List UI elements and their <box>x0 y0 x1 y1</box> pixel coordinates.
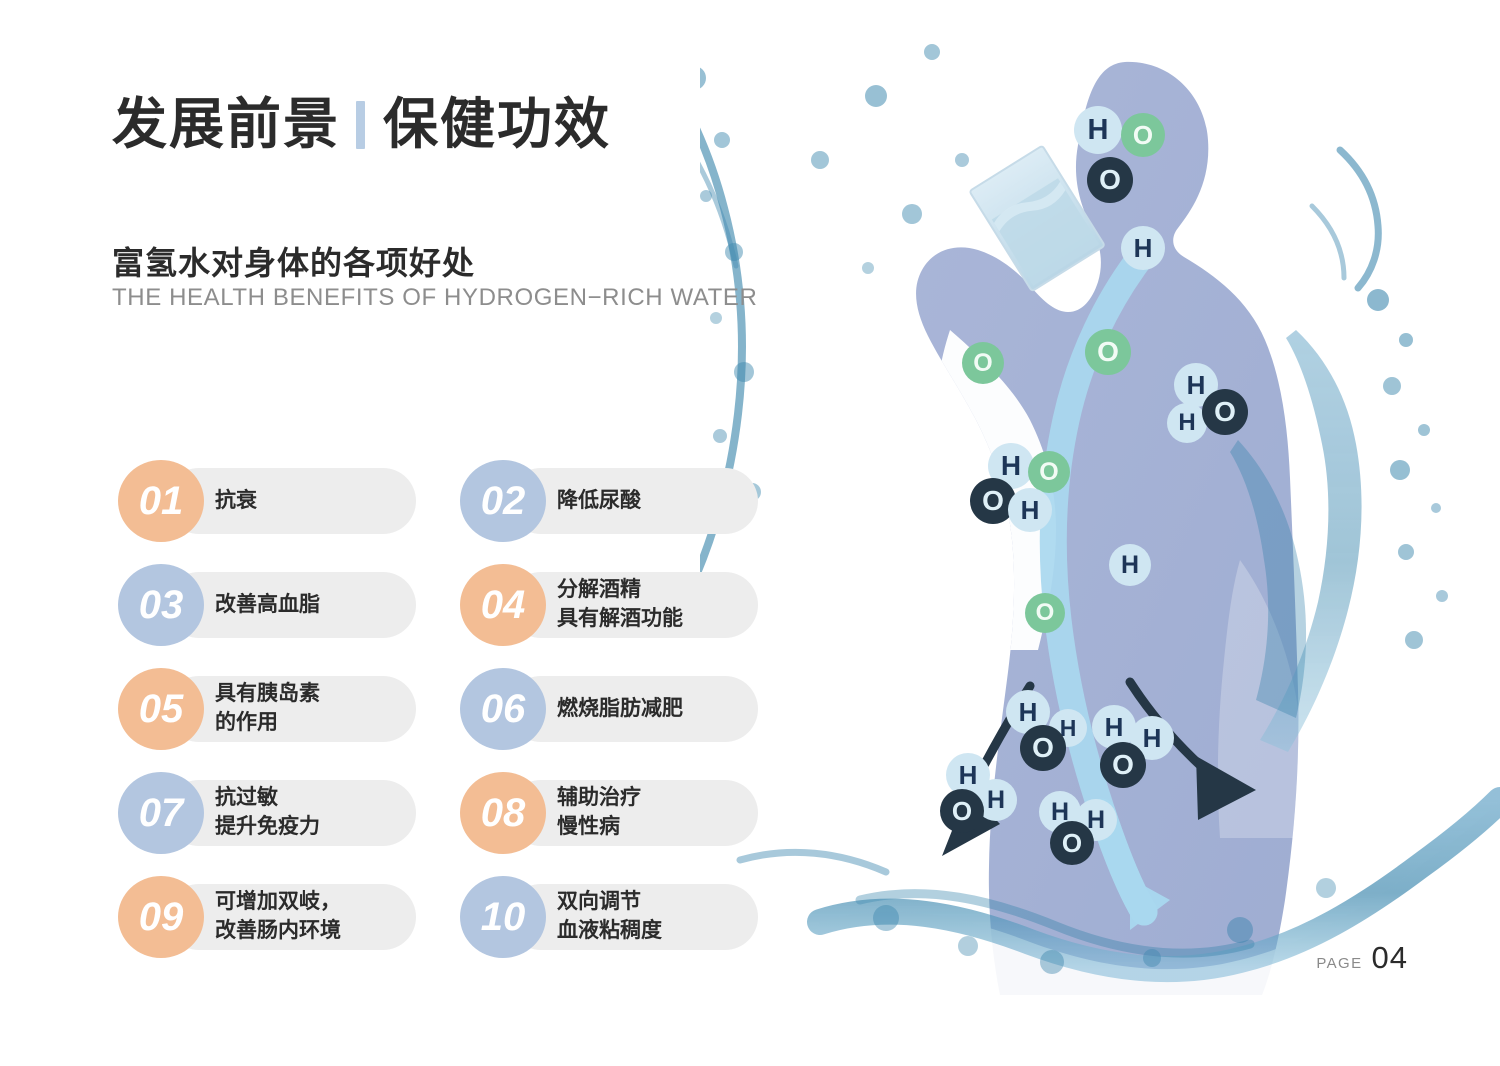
molecule-bubble-h: H <box>1167 403 1207 443</box>
title-row: 发展前景 保健功效 <box>112 96 611 154</box>
benefit-label: 双向调节 血液粘稠度 <box>557 876 752 958</box>
page-title-right: 保健功效 <box>383 96 611 154</box>
molecule-bubble-h: H <box>1121 226 1165 270</box>
benefit-label: 降低尿酸 <box>557 460 752 542</box>
benefits-list: 01抗衰02降低尿酸03改善高血脂04分解酒精 具有解酒功能05具有胰岛素 的作… <box>118 460 758 980</box>
molecule-bubble-o: O <box>1100 742 1146 788</box>
molecule-bubble-o: O <box>1028 451 1070 493</box>
benefit-row: 07抗过敏 提升免疫力08辅助治疗 慢性病 <box>118 772 758 854</box>
molecule-bubble-o: O <box>1202 389 1248 435</box>
benefit-item-02[interactable]: 02降低尿酸 <box>460 460 758 542</box>
benefit-label: 改善高血脂 <box>215 564 410 646</box>
benefit-number-badge: 08 <box>460 772 546 854</box>
molecule-bubble-o: O <box>1087 157 1133 203</box>
benefit-row: 09可增加双岐， 改善肠内环境10双向调节 血液粘稠度 <box>118 876 758 958</box>
benefit-item-03[interactable]: 03改善高血脂 <box>118 564 416 646</box>
page-number: PAGE 04 <box>1316 940 1408 976</box>
benefit-label: 具有胰岛素 的作用 <box>215 668 410 750</box>
benefit-number-badge: 01 <box>118 460 204 542</box>
molecule-bubble-h: H <box>1109 544 1151 586</box>
benefit-item-10[interactable]: 10双向调节 血液粘稠度 <box>460 876 758 958</box>
benefit-label: 燃烧脂肪减肥 <box>557 668 752 750</box>
molecule-bubble-o: O <box>1050 821 1094 865</box>
benefit-number-badge: 10 <box>460 876 546 958</box>
benefit-row: 03改善高血脂04分解酒精 具有解酒功能 <box>118 564 758 646</box>
benefit-item-05[interactable]: 05具有胰岛素 的作用 <box>118 668 416 750</box>
molecule-bubble-h: H <box>1074 106 1122 154</box>
page-label: PAGE <box>1316 955 1362 972</box>
benefit-row: 05具有胰岛素 的作用06燃烧脂肪减肥 <box>118 668 758 750</box>
hydrogen-water-illustration: HOOHOOHHOHOOHHOHHOHHOHHOHHO <box>700 0 1500 1066</box>
molecule-bubble-h: H <box>1008 488 1052 532</box>
benefit-number-badge: 04 <box>460 564 546 646</box>
benefit-label: 抗衰 <box>215 460 410 542</box>
benefit-number-badge: 09 <box>118 876 204 958</box>
benefit-item-08[interactable]: 08辅助治疗 慢性病 <box>460 772 758 854</box>
benefit-label: 抗过敏 提升免疫力 <box>215 772 410 854</box>
page-digits: 04 <box>1372 940 1408 976</box>
page-header: 发展前景 保健功效 <box>112 96 611 154</box>
page-title-left: 发展前景 <box>112 96 340 154</box>
subtitle-chinese: 富氢水对身体的各项好处 <box>112 238 475 284</box>
molecule-bubble-o: O <box>1121 113 1165 157</box>
benefit-item-01[interactable]: 01抗衰 <box>118 460 416 542</box>
benefit-label: 可增加双岐， 改善肠内环境 <box>215 876 410 958</box>
benefit-number-badge: 03 <box>118 564 204 646</box>
molecule-bubble-o: O <box>1025 593 1065 633</box>
benefit-item-04[interactable]: 04分解酒精 具有解酒功能 <box>460 564 758 646</box>
benefit-row: 01抗衰02降低尿酸 <box>118 460 758 542</box>
benefit-number-badge: 02 <box>460 460 546 542</box>
benefit-item-09[interactable]: 09可增加双岐， 改善肠内环境 <box>118 876 416 958</box>
molecule-bubble-o: O <box>940 789 984 833</box>
benefit-item-06[interactable]: 06燃烧脂肪减肥 <box>460 668 758 750</box>
benefit-item-07[interactable]: 07抗过敏 提升免疫力 <box>118 772 416 854</box>
title-divider-bar <box>356 101 365 149</box>
benefit-label: 辅助治疗 慢性病 <box>557 772 752 854</box>
slide-root: HOOHOOHHOHOOHHOHHOHHOHHOHHO 发展前景 保健功效 富氢… <box>0 0 1500 1066</box>
subtitle-english: THE HEALTH BENEFITS OF HYDROGEN−RICH WAT… <box>112 284 757 312</box>
benefit-number-badge: 05 <box>118 668 204 750</box>
molecule-bubble-o: O <box>1020 725 1066 771</box>
benefit-number-badge: 07 <box>118 772 204 854</box>
benefit-label: 分解酒精 具有解酒功能 <box>557 564 752 646</box>
molecule-bubble-o: O <box>1085 329 1131 375</box>
molecule-bubble-o: O <box>962 342 1004 384</box>
benefit-number-badge: 06 <box>460 668 546 750</box>
